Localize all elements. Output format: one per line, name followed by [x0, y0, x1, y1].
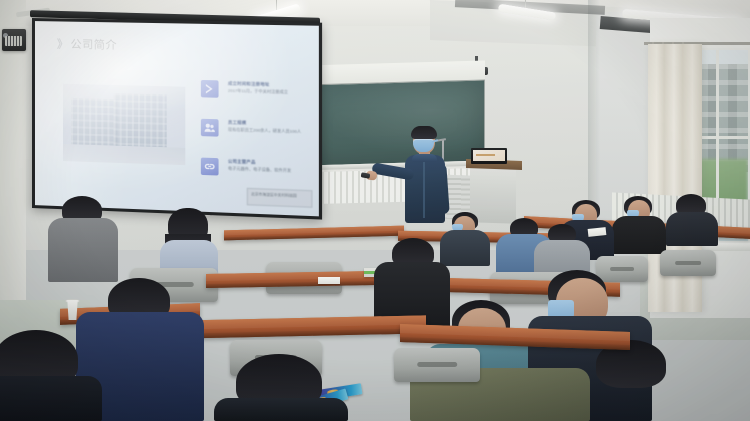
- student-torso: [0, 376, 102, 421]
- presenter-jacket: [405, 155, 445, 223]
- building-windows: [114, 93, 167, 153]
- desk-front-left: [176, 315, 426, 338]
- desk-edge: [176, 328, 426, 339]
- slide-bullet-list: 成立时间和注册地址 2017年11月，于中关村注册成立 员工规模 现有在职员工2…: [201, 80, 315, 201]
- loose-papers: [318, 277, 340, 284]
- presenter-hair: [411, 126, 437, 139]
- slide-bullet-3: 公司主营产品 电子元器件、电子设备、软件开发: [201, 158, 315, 191]
- slide-bullet-2: 员工规模 现有在职员工200余人，研发人员100人: [201, 119, 315, 151]
- classroom-photo: 》公司简介 成立时间和注册地址 2017年11月，于中关村注册成立: [0, 0, 750, 421]
- people-group-icon: [201, 119, 219, 137]
- slide-bullet-3-body: 电子元器件、电子设备、软件开发: [228, 166, 313, 176]
- chain-link-icon: [201, 158, 219, 176]
- slide-title: 》公司简介: [57, 35, 117, 52]
- slide-bullet-1: 成立时间和注册地址 2017年11月，于中关村注册成立: [201, 80, 315, 112]
- arrow-right-icon: [201, 80, 219, 98]
- slide-bullet-2-body: 现有在职员工200余人，研发人员100人: [228, 127, 313, 136]
- slide-building-photo: [63, 84, 185, 165]
- student-torso: [440, 230, 490, 266]
- teaching-podium: [470, 166, 516, 224]
- student-torso: [214, 398, 348, 421]
- photo-ground: [63, 144, 185, 165]
- chair-front-right: [394, 348, 480, 382]
- slide-bullet-1-heading: 成立时间和注册地址: [228, 81, 270, 88]
- chair-back-right: [660, 250, 716, 276]
- presenter-jacket-zipper: [423, 158, 425, 218]
- chair-back-center: [596, 256, 648, 282]
- presenter-mask-strap: [432, 139, 438, 143]
- presenter: [386, 128, 458, 223]
- slide-footer-note: 北京市海淀区中关村科技园: [247, 188, 313, 208]
- projection-screen-surface: 》公司简介 成立时间和注册地址 2017年11月，于中关村注册成立: [35, 21, 319, 216]
- projection-screen: 》公司简介 成立时间和注册地址 2017年11月，于中关村注册成立: [32, 18, 322, 220]
- student-torso: [612, 216, 666, 254]
- podium-monitor-screen: [473, 150, 505, 161]
- slide-title-chevron-icon: 》: [57, 38, 69, 50]
- slide-bullet-3-heading: 公司主营产品: [228, 158, 256, 165]
- building-block-right: [114, 93, 167, 153]
- student-torso: [48, 218, 118, 282]
- wall-mounted-projector-unit: [2, 29, 26, 51]
- student-torso: [666, 212, 718, 246]
- student-long-hair-hair: [168, 208, 208, 244]
- slide-bullet-2-heading: 员工规模: [228, 120, 246, 127]
- projector-grill: [5, 36, 22, 46]
- slide-bullet-1-body: 2017年11月，于中关村注册成立: [228, 88, 313, 97]
- presenter-collar: [412, 154, 437, 162]
- podium-monitor: [471, 148, 507, 164]
- slide-title-text: 公司简介: [71, 39, 118, 52]
